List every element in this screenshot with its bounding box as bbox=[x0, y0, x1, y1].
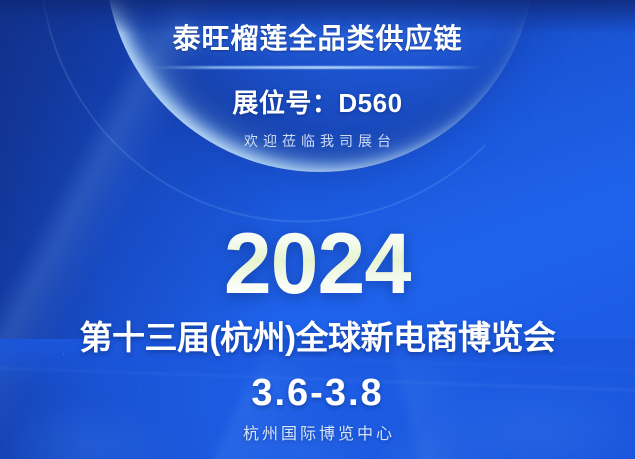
poster-content: 泰旺榴莲全品类供应链 展位号：D560 欢迎莅临我司展台 2024 第十三届(杭… bbox=[0, 0, 635, 459]
event-venue: 杭州国际博览中心 bbox=[240, 420, 395, 444]
welcome-message: 欢迎莅临我司展台 bbox=[239, 131, 396, 151]
event-poster: 泰旺榴莲全品类供应链 展位号：D560 欢迎莅临我司展台 2024 第十三届(杭… bbox=[0, 0, 635, 459]
company-headline: 泰旺榴莲全品类供应链 bbox=[172, 17, 462, 57]
event-dates: 3.6-3.8 bbox=[251, 372, 383, 415]
headline-divider bbox=[153, 66, 483, 69]
booth-number: 展位号：D560 bbox=[232, 83, 402, 120]
expo-title: 第十三届(杭州)全球新电商博览会 bbox=[80, 311, 556, 359]
event-year: 2024 bbox=[224, 224, 411, 306]
